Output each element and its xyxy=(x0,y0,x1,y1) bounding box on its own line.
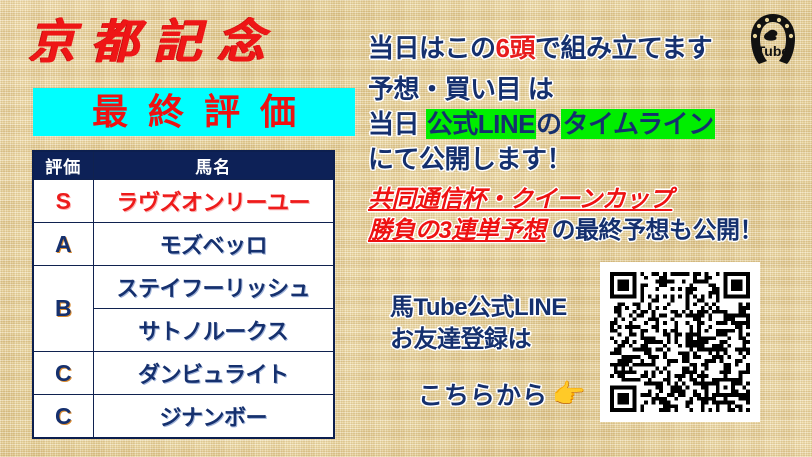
table-row: B ステイフーリッシュ xyxy=(33,266,334,309)
promo-line-1-text: 予想・買い目 は xyxy=(368,74,553,104)
cta-here-label: こちらから xyxy=(418,376,548,412)
red-promo-line-1-text: 共同通信杯・クイーンカップ xyxy=(368,186,672,213)
promo-highlight-a-text: 公式LINE xyxy=(427,109,535,139)
horse-glyph xyxy=(764,30,777,41)
table-row: C ダンビュライト xyxy=(33,352,334,395)
headline-prefix: 当日はこの xyxy=(368,33,496,63)
promo-line-2-mid: の xyxy=(536,109,562,139)
headline: 当日はこの6頭で組み立てます xyxy=(368,28,712,65)
line-cta-line-1: 馬Tube公式LINE xyxy=(390,292,567,324)
page-title: 京都記念 xyxy=(28,18,353,65)
table-row: C ジナンボー xyxy=(33,395,334,439)
red-promo-line-2: 勝負の3連単予想 の最終予想も公開！ xyxy=(368,215,763,246)
pointing-right-hand-icon: 👉 xyxy=(552,381,587,408)
cell-rating: C xyxy=(33,395,93,439)
red-promo-line-2-text: 勝負の3連単予想 xyxy=(368,217,545,244)
table-header-row: 評価 馬名 xyxy=(33,151,334,180)
promo-line-3-text: にて公開します！ xyxy=(368,144,572,174)
table-row: A モズベッロ xyxy=(33,223,334,266)
promo-block: 予想・買い目 は 当日 公式LINEのタイムライン にて公開します！ xyxy=(368,72,715,177)
cell-horse-name: ラヴズオンリーユー xyxy=(93,180,334,223)
table-body: S ラヴズオンリーユー A モズベッロ B ステイフーリッシュ サトノルークス … xyxy=(33,180,334,439)
cta-here: こちらから 👉 xyxy=(418,376,587,412)
red-promo: 共同通信杯・クイーンカップ 勝負の3連単予想 の最終予想も公開！ xyxy=(368,184,763,246)
cell-rating: C xyxy=(33,352,93,395)
promo-line-2: 当日 公式LINEのタイムライン xyxy=(368,107,715,142)
headline-count: 6頭 xyxy=(496,33,535,63)
line-cta-line-2: お友達登録は xyxy=(390,324,567,356)
promo-highlight-official-line: 公式LINE xyxy=(426,109,536,139)
promo-highlight-b-text: タイムライン xyxy=(562,109,713,139)
table-row: S ラヴズオンリーユー xyxy=(33,180,334,223)
poster-canvas: 京都記念 最終評価 評価 馬名 S ラヴズオンリーユー A モズベッロ B ステ… xyxy=(0,0,812,457)
qr-code-box[interactable] xyxy=(600,262,760,422)
cell-horse-name: ジナンボー xyxy=(93,395,334,439)
red-promo-line-2-tail: の最終予想も公開！ xyxy=(545,217,763,244)
red-promo-line-1: 共同通信杯・クイーンカップ xyxy=(368,184,763,215)
column-header-horse-name: 馬名 xyxy=(93,151,334,180)
headline-suffix: で組み立てます xyxy=(535,33,712,63)
cell-rating: B xyxy=(33,266,93,352)
cell-rating: S xyxy=(33,180,93,223)
cell-rating: A xyxy=(33,223,93,266)
cell-horse-name: ダンビュライト xyxy=(93,352,334,395)
rating-table: 評価 馬名 S ラヴズオンリーユー A モズベッロ B ステイフーリッシュ サト… xyxy=(32,150,335,439)
promo-highlight-timeline: タイムライン xyxy=(561,109,714,139)
cell-horse-name: サトノルークス xyxy=(93,309,334,352)
horseshoe-logo: Tube xyxy=(742,8,804,70)
cell-horse-name: ステイフーリッシュ xyxy=(93,266,334,309)
cell-horse-name: モズベッロ xyxy=(93,223,334,266)
promo-line-2-prefix: 当日 xyxy=(368,109,426,139)
column-header-rating: 評価 xyxy=(33,151,93,180)
qr-code-icon[interactable] xyxy=(610,272,750,412)
line-cta: 馬Tube公式LINE お友達登録は xyxy=(390,292,567,356)
promo-line-1: 予想・買い目 は xyxy=(368,72,715,107)
subtitle-banner: 最終評価 xyxy=(33,88,355,136)
subtitle-text: 最終評価 xyxy=(72,94,316,130)
logo-text: Tube xyxy=(757,43,790,59)
promo-line-3: にて公開します！ xyxy=(368,142,715,177)
